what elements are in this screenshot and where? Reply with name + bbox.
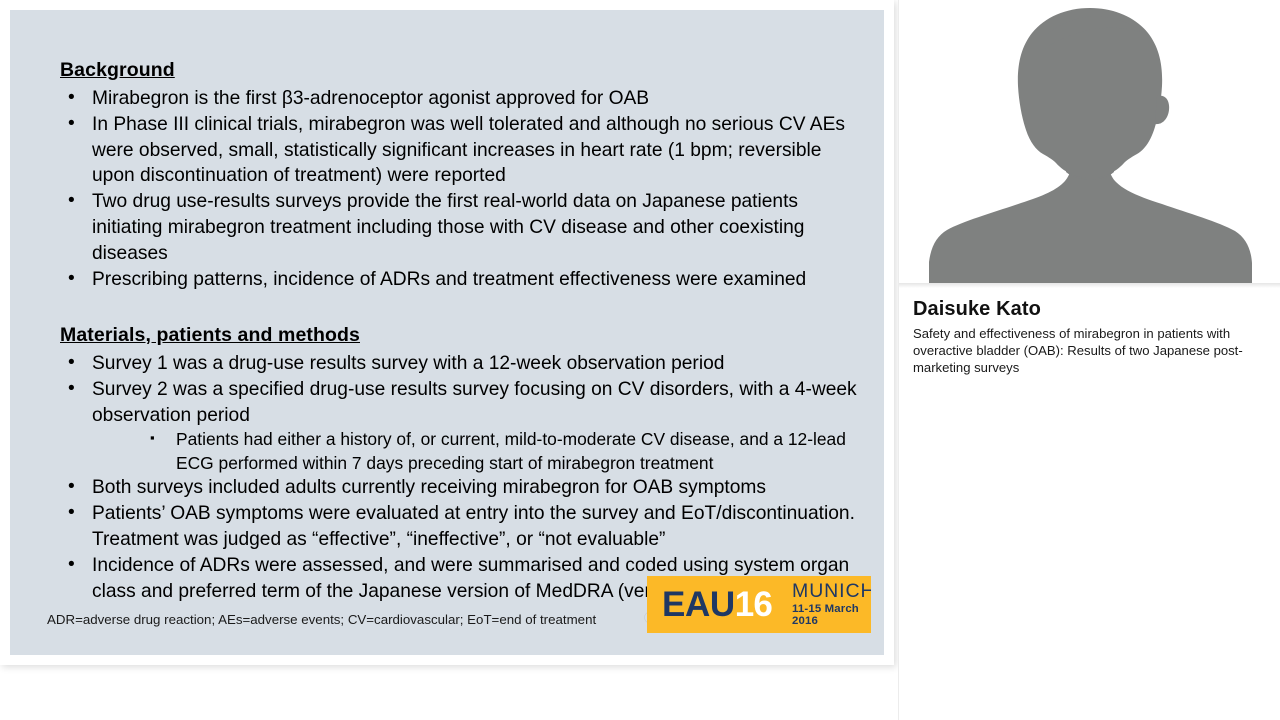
bullet-text: Survey 2 was a specified drug-use result… (92, 379, 857, 426)
bullet-text: Both surveys included adults currently r… (92, 477, 766, 498)
sub-bullet-item: ▪ Patients had either a history of, or c… (132, 428, 860, 475)
logo-city-text: MUNICH (792, 582, 871, 602)
bullet-item: • Survey 2 was a specified drug-use resu… (60, 377, 860, 475)
sub-bullet-list: ▪ Patients had either a history of, or c… (92, 428, 860, 475)
logo-year-text: 16 (735, 587, 772, 622)
bullet-text: Mirabegron is the first β3-adrenoceptor … (92, 88, 649, 109)
section-heading-background: Background (60, 58, 860, 84)
slide-section-materials: Materials, patients and methods • Survey… (60, 323, 860, 605)
bullet-text: Prescribing patterns, incidence of ADRs … (92, 269, 806, 290)
bullet-item: • Mirabegron is the first β3-adrenocepto… (60, 86, 860, 112)
bullet-marker-icon: • (68, 500, 75, 526)
bullet-list-background: • Mirabegron is the first β3-adrenocepto… (60, 86, 860, 293)
logo-brand-group: EAU 16 (647, 587, 772, 622)
bullet-item: • Two drug use-results surveys provide t… (60, 189, 860, 266)
slide-section-background: Background • Mirabegron is the first β3-… (60, 58, 860, 292)
logo-city-group: MUNICH 11-15 March 2016 (792, 582, 871, 627)
section-spacer (60, 293, 860, 323)
bullet-marker-icon: • (68, 188, 75, 214)
bullet-list-materials: • Survey 1 was a drug-use results survey… (60, 351, 860, 605)
speaker-name: Daisuke Kato (913, 297, 1266, 321)
slide-content: Background • Mirabegron is the first β3-… (60, 58, 860, 605)
bullet-marker-icon: • (68, 85, 75, 111)
logo-brand-text: EAU (662, 587, 735, 622)
bullet-item: • Patients’ OAB symptoms were evaluated … (60, 501, 860, 552)
bullet-marker-icon: • (68, 350, 75, 376)
bullet-item: • Prescribing patterns, incidence of ADR… (60, 267, 860, 293)
bullet-marker-icon: • (68, 552, 75, 578)
bullet-marker-icon: • (68, 376, 75, 402)
sub-bullet-text: Patients had either a history of, or cur… (176, 429, 846, 472)
person-silhouette-icon (899, 0, 1280, 283)
bullet-marker-icon: • (68, 111, 75, 137)
bullet-text: Survey 1 was a drug-use results survey w… (92, 353, 724, 374)
slide-surface: Background • Mirabegron is the first β3-… (10, 10, 884, 655)
bullet-item: • Both surveys included adults currently… (60, 475, 860, 501)
bullet-marker-icon: • (68, 266, 75, 292)
bullet-item: • In Phase III clinical trials, mirabegr… (60, 112, 860, 189)
bullet-text: In Phase III clinical trials, mirabegron… (92, 114, 845, 186)
sub-bullet-marker-icon: ▪ (150, 428, 155, 448)
logo-dates-text: 11-15 March 2016 (792, 604, 871, 627)
speaker-info: Daisuke Kato Safety and effectiveness of… (899, 283, 1280, 377)
speaker-panel: Daisuke Kato Safety and effectiveness of… (898, 0, 1280, 720)
section-heading-materials: Materials, patients and methods (60, 323, 860, 349)
speaker-photo (899, 0, 1280, 283)
speaker-talk-title: Safety and effectiveness of mirabegron i… (913, 326, 1266, 377)
bullet-text: Patients’ OAB symptoms were evaluated at… (92, 503, 855, 550)
slide-footnote-abbreviations: ADR=adverse drug reaction; AEs=adverse e… (47, 610, 622, 629)
bullet-item: • Survey 1 was a drug-use results survey… (60, 351, 860, 377)
photo-bottom-shadow (899, 283, 1280, 288)
eau16-congress-logo: EAU 16 MUNICH 11-15 March 2016 (647, 576, 871, 633)
bullet-marker-icon: • (68, 474, 75, 500)
bullet-text: Two drug use-results surveys provide the… (92, 191, 804, 263)
slide-card: Background • Mirabegron is the first β3-… (0, 0, 894, 665)
